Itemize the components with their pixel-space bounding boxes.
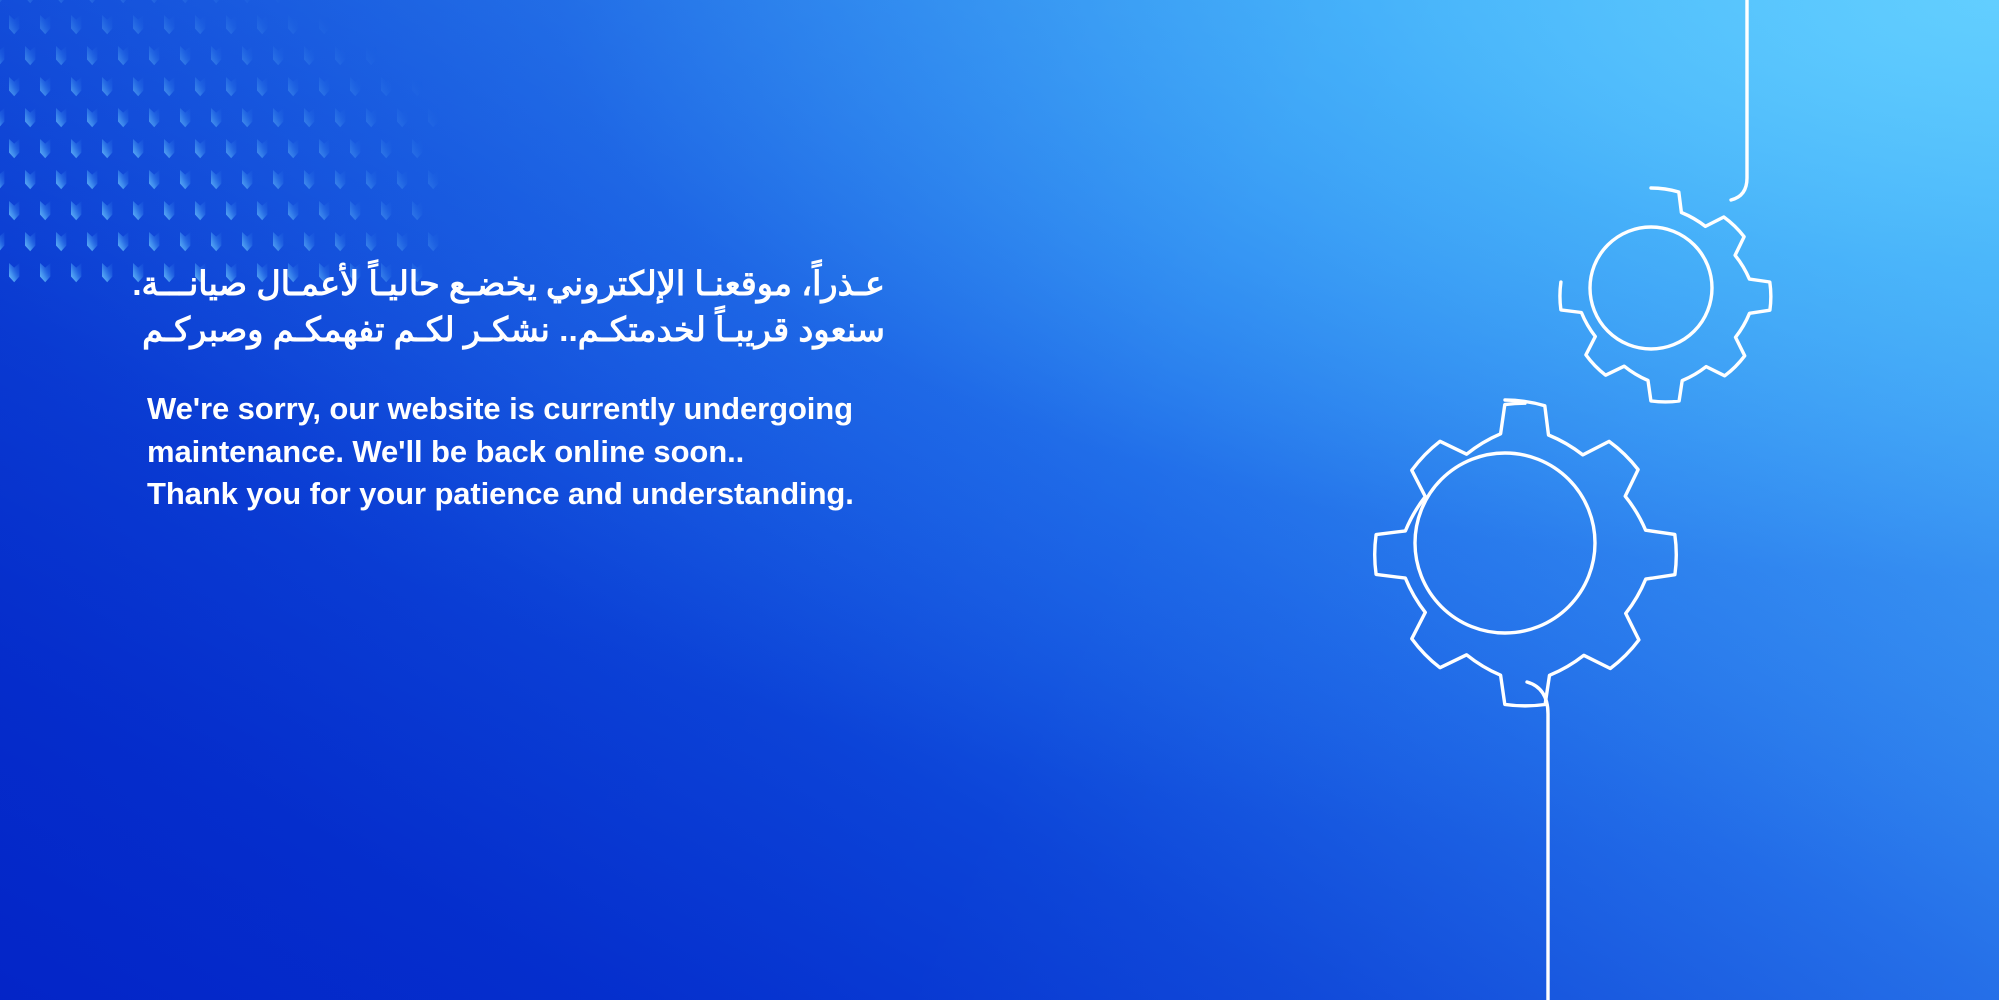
maintenance-page: عـذراً، موقعنـا الإلكتروني يخضـع حاليـاً… (0, 0, 1999, 1000)
message-block: عـذراً، موقعنـا الإلكتروني يخضـع حاليـاً… (147, 262, 1147, 516)
english-message: We're sorry, our website is currently un… (147, 388, 1147, 516)
english-line-2: maintenance. We'll be back online soon.. (147, 431, 1147, 474)
arabic-message: عـذراً، موقعنـا الإلكتروني يخضـع حاليـاً… (147, 262, 885, 354)
arabic-line-2: سنعود قريبـاً لخدمتكـم.. نشكـر لكـم تفهم… (147, 308, 885, 354)
english-line-3: Thank you for your patience and understa… (147, 473, 1147, 516)
arabic-line-1: عـذراً، موقعنـا الإلكتروني يخضـع حاليـاً… (147, 262, 885, 308)
english-line-1: We're sorry, our website is currently un… (147, 388, 1147, 431)
